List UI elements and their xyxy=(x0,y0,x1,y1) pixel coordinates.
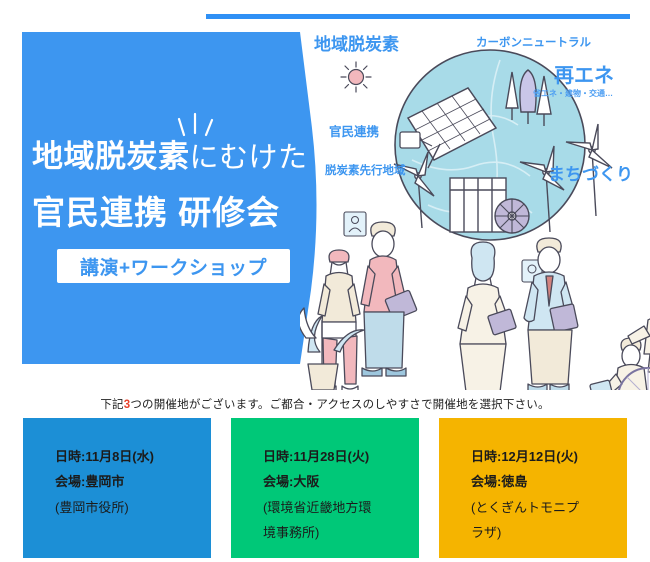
venue-card-list: 日時:11月8日(水)会場:豊岡市(豊岡市役所)日時:11月28日(火)会場:大… xyxy=(0,418,650,558)
venue-card-line: 日時:11月8日(水) xyxy=(55,444,211,469)
label-saiene: 再エネ xyxy=(554,66,614,86)
person-3 xyxy=(458,242,517,390)
venue-card-line: ラザ) xyxy=(471,520,627,545)
venue-card-tokushima[interactable]: 日時:12月12日(火)会場:徳島(とくぎんトモニプラザ) xyxy=(439,418,627,558)
venue-card-line: (豊岡市役所) xyxy=(55,495,211,520)
poster-page: 地域脱炭素にむけた 官民連携 研修会 講演+ワークショップ xyxy=(0,0,650,562)
venue-card-line: (とくぎんトモニプ xyxy=(471,495,627,520)
venue-card-line: 会場:徳島 xyxy=(471,469,627,494)
hero-title-keyword: 地域脱炭素 xyxy=(32,139,190,174)
intro-prefix: 下記 xyxy=(100,399,123,411)
venue-card-line: 会場:大阪 xyxy=(263,469,419,494)
venue-card-osaka[interactable]: 日時:11月28日(火)会場:大阪(環境省近畿地方環境事務所) xyxy=(231,418,419,558)
venue-card-line: 境事務所) xyxy=(263,520,419,545)
label-dattanso-senkou: 脱炭素先行地域 xyxy=(325,166,406,178)
intro-suffix: つの開催地がございます。ご都合・アクセスのしやすさで開催地を選択下さい。 xyxy=(130,399,549,411)
hero-banner: 地域脱炭素にむけた 官民連携 研修会 講演+ワークショップ xyxy=(0,0,340,390)
venue-card-line: 日時:11月28日(火) xyxy=(263,444,419,469)
venue-card-line: 会場:豊岡市 xyxy=(55,469,211,494)
intro-text: 下記3つの開催地がございます。ご都合・アクセスのしやすさで開催地を選択下さい。 xyxy=(0,396,650,412)
label-machizukuri: まちづくり xyxy=(548,166,633,183)
hero-title-suffix: にむけた xyxy=(190,142,308,174)
label-kanmin-renkei: 官民連携 xyxy=(329,126,379,139)
sun-icon xyxy=(341,62,371,92)
venue-card-line: (環境省近畿地方環 xyxy=(263,495,419,520)
label-saiene-sub: 省エネ・建物・交通… xyxy=(533,90,613,98)
venue-card-toyooka[interactable]: 日時:11月8日(水)会場:豊岡市(豊岡市役所) xyxy=(23,418,211,558)
hero-title-line-2: 官民連携 研修会 xyxy=(32,186,280,234)
label-carbon-neutral: カーボンニュートラル xyxy=(476,38,591,50)
person-2 xyxy=(361,222,417,376)
label-chiiki-dattanso: 地域脱炭素 xyxy=(314,36,399,53)
hero-title-line-1: 地域脱炭素にむけた xyxy=(32,131,308,176)
person-5 xyxy=(590,338,650,390)
venue-card-line: 日時:12月12日(火) xyxy=(471,444,627,469)
hero-badge-label: 講演+ワークショップ xyxy=(80,253,267,280)
hero-badge: 講演+ワークショップ xyxy=(57,249,290,283)
